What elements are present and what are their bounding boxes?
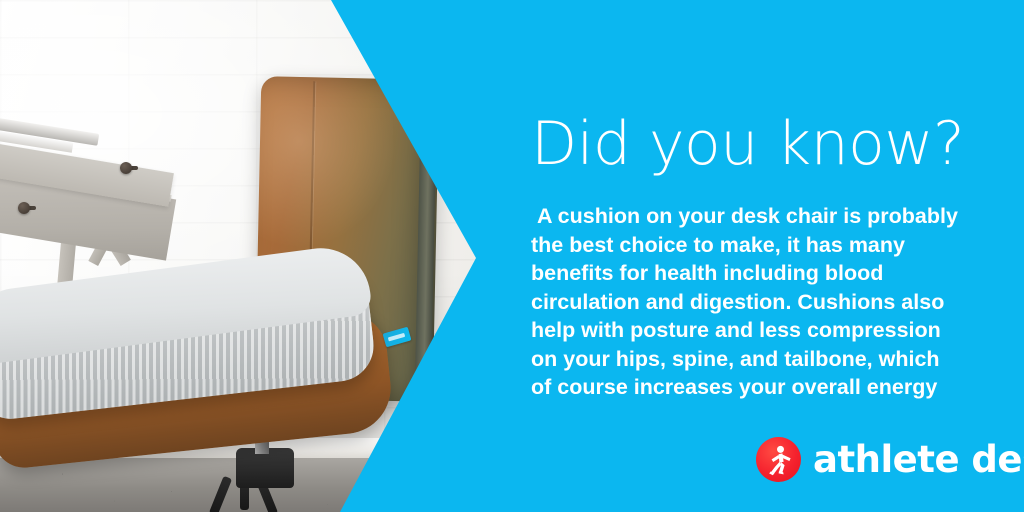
drawer-knob [120,162,132,174]
chair-pedestal-hub [236,448,294,488]
promo-banner: Did you know? A cushion on your desk cha… [0,0,1024,512]
body-copy: A cushion on your desk chair is probably… [531,202,961,402]
running-person-icon [756,437,801,482]
brand-name: athlete desk [813,441,1024,478]
brand-logo[interactable]: athlete desk [756,437,1024,482]
headline: Did you know? [531,114,964,174]
drawer-knob [18,202,30,214]
